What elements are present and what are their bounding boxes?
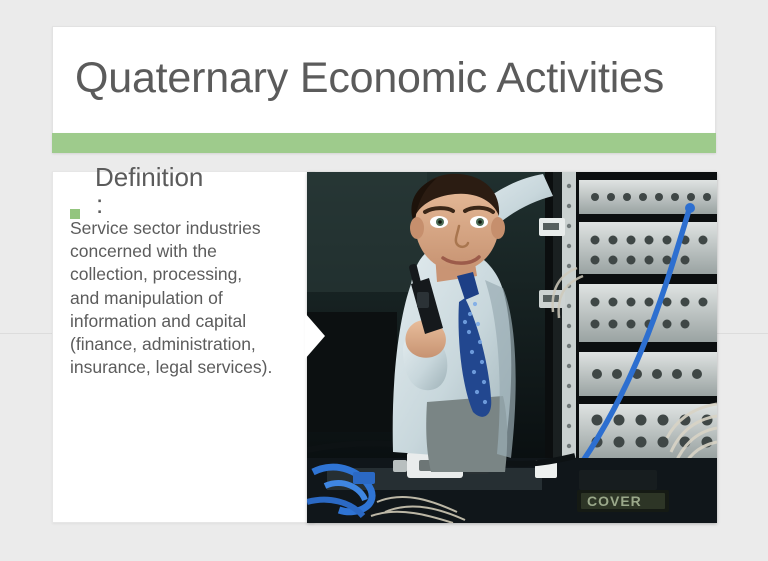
title-accent-bar — [52, 133, 716, 153]
title-card: Quaternary Economic Activities — [52, 26, 716, 133]
section-heading-colon: : — [96, 190, 103, 219]
page-title: Quaternary Economic Activities — [75, 57, 664, 100]
svg-text:COVER: COVER — [587, 493, 642, 509]
body-paragraph: Service sector industries concerned with… — [70, 217, 276, 379]
photo-man-with-phone-at-server-rack: COVER — [307, 172, 717, 523]
photo-illustration: COVER — [307, 172, 717, 523]
section-heading: Definition — [95, 163, 203, 192]
